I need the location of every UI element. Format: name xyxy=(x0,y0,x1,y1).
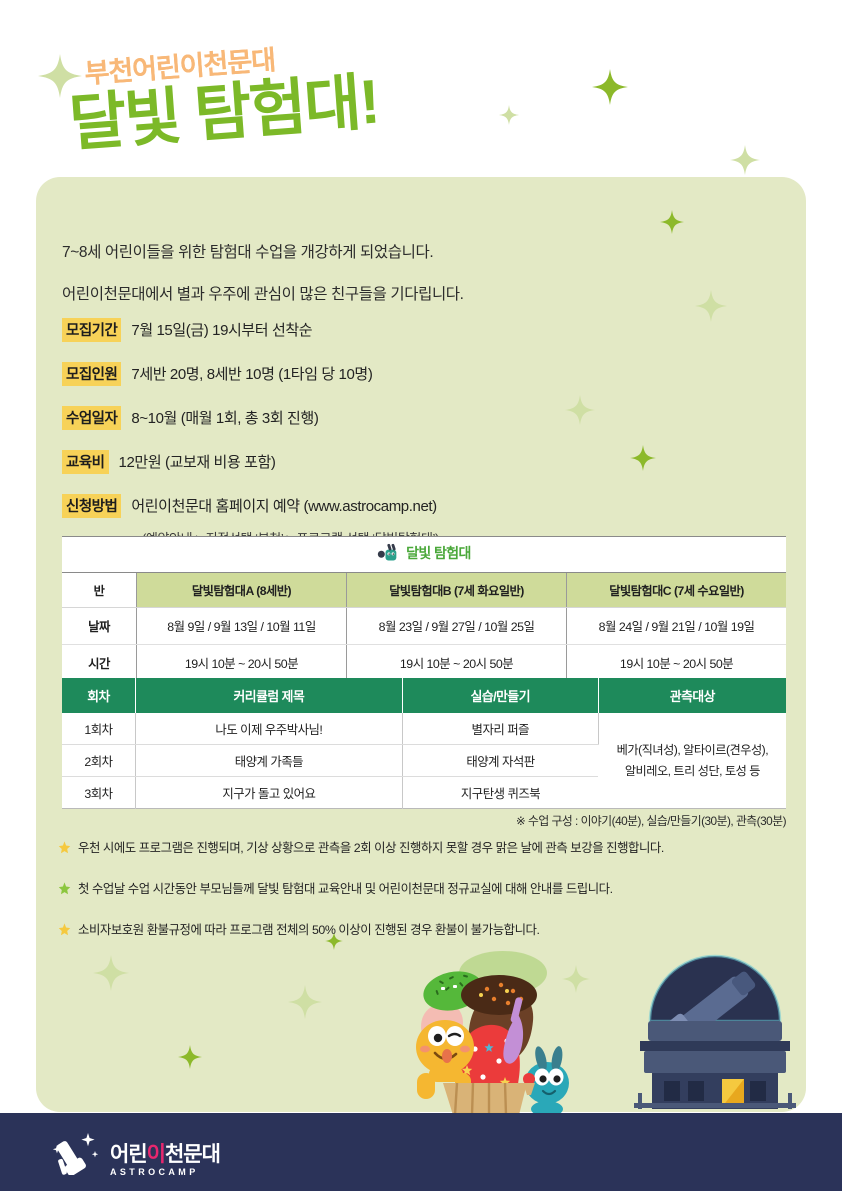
curriculum-title-3: 지구가 돌고 있어요 xyxy=(135,777,402,809)
observation-line-1: 베가(직녀성), 알타이르(견우성), xyxy=(600,740,785,761)
telescope-logo-icon xyxy=(48,1129,102,1180)
logo-english-name: ASTROCAMP xyxy=(110,1168,220,1177)
info-label: 신청방법 xyxy=(62,494,121,518)
curriculum-title-1: 나도 이제 우주박사님! xyxy=(135,713,402,745)
schedule-row-times: 시간 19시 10분 ~ 20시 50분 19시 10분 ~ 20시 50분 1… xyxy=(62,645,786,682)
schedule-col-c-name: 달빛탐험대C (7세 수요일반) xyxy=(567,573,786,608)
curriculum-activity-3: 지구탄생 퀴즈북 xyxy=(402,777,598,809)
table-row: 1회차 나도 이제 우주박사님! 별자리 퍼즐 베가(직녀성), 알타이르(견우… xyxy=(62,713,786,745)
info-label: 모집기간 xyxy=(62,318,121,342)
logo-ko-accent: 이 xyxy=(147,1143,165,1166)
curriculum-title-2: 태양계 가족들 xyxy=(135,745,402,777)
curriculum-session-3: 3회차 xyxy=(62,777,135,809)
info-row-capacity: 모집인원 7세반 20명, 8세반 10명 (1타임 당 10명) xyxy=(62,362,439,386)
star-bullet-icon xyxy=(58,841,71,859)
note-item-first-class: 첫 수업날 수업 시간동안 부모님들께 달빛 탐험대 교육안내 및 어린이천문대… xyxy=(58,881,798,900)
schedule-col-a-name: 달빛탐험대A (8세반) xyxy=(137,573,347,608)
info-row-class-dates: 수업일자 8~10월 (매월 1회, 총 3회 진행) xyxy=(62,406,439,430)
schedule-header-row: 반 달빛탐험대A (8세반) 달빛탐험대B (7세 화요일반) 달빛탐험대C (… xyxy=(62,573,786,608)
note-item-weather: 우천 시에도 프로그램은 진행되며, 기상 상황으로 관측을 2회 이상 진행하… xyxy=(58,840,798,859)
schedule-brand-cell: 달빛 탐험대 xyxy=(62,537,786,573)
class-structure-footnote: ※ 수업 구성 : 이야기(40분), 실습/만들기(30분), 관측(30분) xyxy=(516,812,786,829)
logo-wordmark: 어린이천문대 ASTROCAMP xyxy=(110,1144,220,1180)
logo-korean-name: 어린이천문대 xyxy=(110,1144,220,1165)
curriculum-header-title: 커리큘럼 제목 xyxy=(135,678,402,713)
info-value: 7세반 20명, 8세반 10명 (1타임 당 10명) xyxy=(131,363,372,384)
schedule-brand-row: 달빛 탐험대 xyxy=(62,537,786,573)
astrocamp-logo: 어린이천문대 ASTROCAMP xyxy=(48,1129,220,1180)
info-value: 어린이천문대 홈페이지 예약 (www.astrocamp.net) xyxy=(131,495,436,516)
schedule-cell-time-c: 19시 10분 ~ 20시 50분 xyxy=(567,645,786,682)
curriculum-header-row: 회차 커리큘럼 제목 실습/만들기 관측대상 xyxy=(62,678,786,713)
schedule-cell-date-c: 8월 24일 / 9월 21일 / 10월 19일 xyxy=(567,608,786,645)
footer-bar: 어린이천문대 ASTROCAMP xyxy=(0,1113,842,1191)
note-text: 첫 수업날 수업 시간동안 부모님들께 달빛 탐험대 교육안내 및 어린이천문대… xyxy=(78,881,613,897)
schedule-row-label-time: 시간 xyxy=(62,645,137,682)
curriculum-session-1: 1회차 xyxy=(62,713,135,745)
curriculum-observation-targets: 베가(직녀성), 알타이르(견우성), 알비레오, 트리 성단, 토성 등 xyxy=(598,713,786,809)
logo-ko-before: 어린 xyxy=(110,1143,147,1166)
info-row-recruit-period: 모집기간 7월 15일(금) 19시부터 선착순 xyxy=(62,318,439,342)
note-item-refund: 소비자보호원 환불규정에 따라 프로그램 전체의 50% 이상이 진행된 경우 … xyxy=(58,922,798,941)
poster-root: 부천어린이천문대 달빛 탐험대! 7~8세 어린이들을 위한 탐험대 수업을 개… xyxy=(0,0,842,1191)
schedule-cell-time-b: 19시 10분 ~ 20시 50분 xyxy=(346,645,566,682)
schedule-table-wrap: 달빛 탐험대 반 달빛탐험대A (8세반) 달빛탐험대B (7세 화요일반) 달… xyxy=(62,536,786,682)
schedule-brand-label: 달빛 탐험대 xyxy=(406,543,471,563)
curriculum-table-wrap: 회차 커리큘럼 제목 실습/만들기 관측대상 1회차 나도 이제 우주박사님! … xyxy=(62,678,786,809)
curriculum-header-session: 회차 xyxy=(62,678,135,713)
info-label: 교육비 xyxy=(62,450,109,474)
curriculum-session-2: 2회차 xyxy=(62,745,135,777)
curriculum-header-activity: 실습/만들기 xyxy=(402,678,598,713)
star-bullet-icon xyxy=(58,923,71,941)
info-row-how-to-apply: 신청방법 어린이천문대 홈페이지 예약 (www.astrocamp.net) xyxy=(62,494,439,518)
schedule-row-label-date: 날짜 xyxy=(62,608,137,645)
logo-ko-after: 천문대 xyxy=(165,1143,220,1166)
curriculum-activity-2: 태양계 자석판 xyxy=(402,745,598,777)
info-value: 7월 15일(금) 19시부터 선착순 xyxy=(131,319,312,340)
curriculum-activity-1: 별자리 퍼즐 xyxy=(402,713,598,745)
note-text: 우천 시에도 프로그램은 진행되며, 기상 상황으로 관측을 2회 이상 진행하… xyxy=(78,840,664,856)
intro-paragraph: 7~8세 어린이들을 위한 탐험대 수업을 개강하게 되었습니다. 어린이천문대… xyxy=(62,240,464,324)
star-bullet-icon xyxy=(58,882,71,900)
info-label: 모집인원 xyxy=(62,362,121,386)
curriculum-header-observation: 관측대상 xyxy=(598,678,786,713)
info-list: 모집기간 7월 15일(금) 19시부터 선착순 모집인원 7세반 20명, 8… xyxy=(62,318,439,547)
intro-line-1: 7~8세 어린이들을 위한 탐험대 수업을 개강하게 되었습니다. xyxy=(62,240,464,262)
curriculum-table: 회차 커리큘럼 제목 실습/만들기 관측대상 1회차 나도 이제 우주박사님! … xyxy=(62,678,786,809)
note-text: 소비자보호원 환불규정에 따라 프로그램 전체의 50% 이상이 진행된 경우 … xyxy=(78,922,540,938)
schedule-cell-time-a: 19시 10분 ~ 20시 50분 xyxy=(137,645,347,682)
info-row-tuition: 교육비 12만원 (교보재 비용 포함) xyxy=(62,450,439,474)
sparkle-icon xyxy=(499,105,519,125)
poster-headline: 부천어린이천문대 달빛 탐험대! xyxy=(72,52,381,156)
info-label: 수업일자 xyxy=(62,406,121,430)
intro-line-2: 어린이천문대에서 별과 우주에 관심이 많은 친구들을 기다립니다. xyxy=(62,282,464,304)
sparkle-icon xyxy=(592,69,628,105)
notes-list: 우천 시에도 프로그램은 진행되며, 기상 상황으로 관측을 2회 이상 진행하… xyxy=(58,840,798,963)
schedule-table: 달빛 탐험대 반 달빛탐험대A (8세반) 달빛탐험대B (7세 화요일반) 달… xyxy=(62,536,786,682)
info-value: 12만원 (교보재 비용 포함) xyxy=(119,451,276,472)
info-value: 8~10월 (매월 1회, 총 3회 진행) xyxy=(131,407,318,428)
schedule-row-dates: 날짜 8월 9일 / 9월 13일 / 10월 11일 8월 23일 / 9월 … xyxy=(62,608,786,645)
observation-line-2: 알비레오, 트리 성단, 토성 등 xyxy=(600,761,785,782)
moonlight-mascot-icon: 달빛 탐험대 xyxy=(377,543,471,563)
sparkle-icon xyxy=(730,145,760,175)
schedule-col-b-name: 달빛탐험대B (7세 화요일반) xyxy=(346,573,566,608)
schedule-cell-date-b: 8월 23일 / 9월 27일 / 10월 25일 xyxy=(346,608,566,645)
schedule-cell-date-a: 8월 9일 / 9월 13일 / 10월 11일 xyxy=(137,608,347,645)
schedule-row-label-class: 반 xyxy=(62,573,137,608)
